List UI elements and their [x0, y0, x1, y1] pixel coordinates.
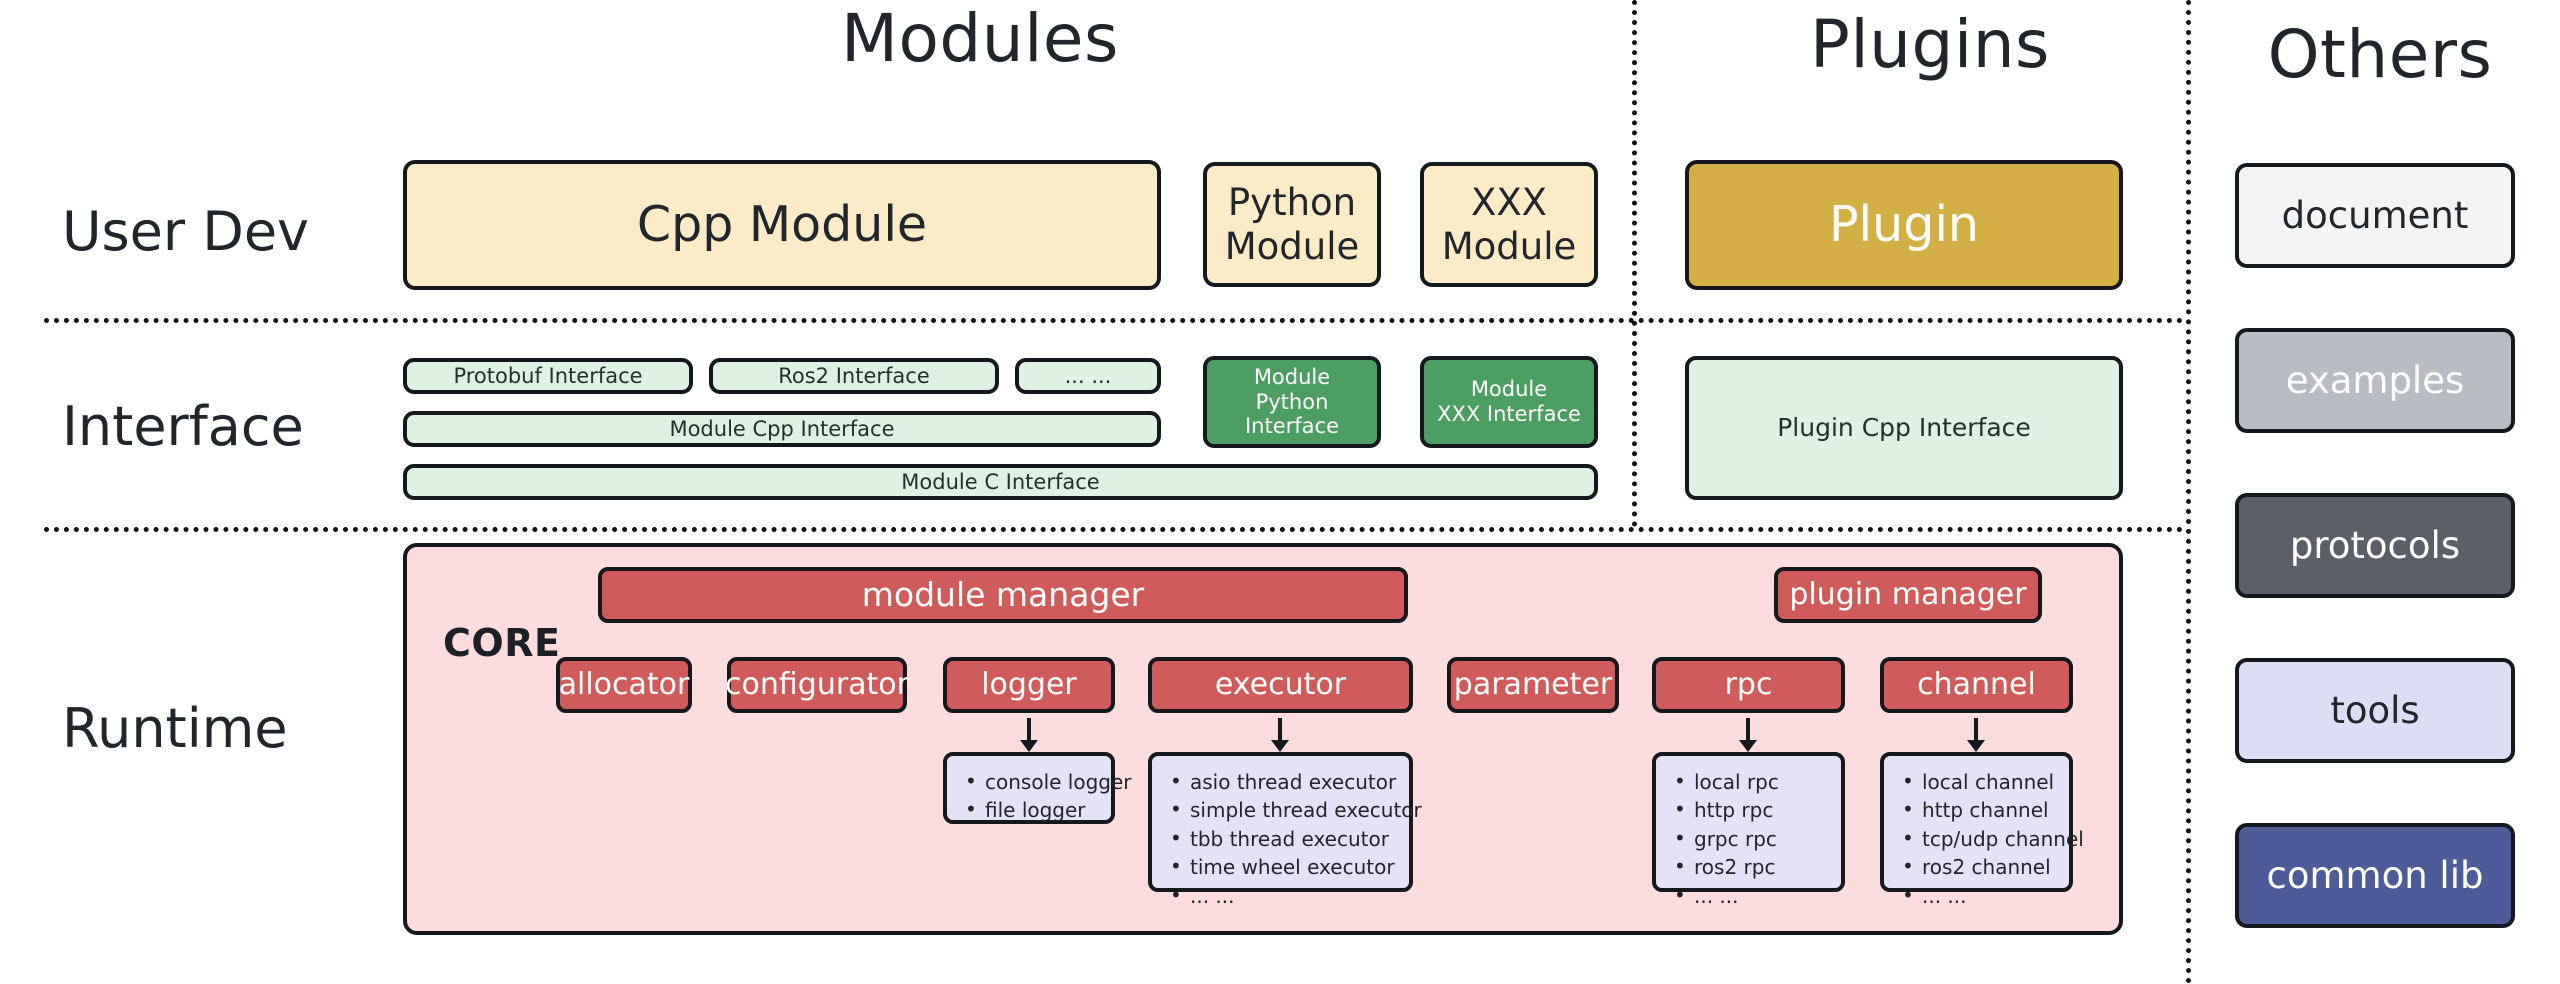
list-item: simple thread executor [1190, 796, 1395, 824]
tools-box[interactable]: tools [2235, 658, 2515, 763]
list-item: ros2 rpc [1694, 853, 1827, 881]
separator-modules-plugins [1632, 0, 1637, 527]
python-module-label-line1: Python [1228, 181, 1356, 225]
ros2-interface-box[interactable]: Ros2 Interface [709, 358, 999, 394]
rpc-list-box: local rpc http rpc grpc rpc ros2 rpc ...… [1652, 752, 1845, 892]
list-item: tcp/udp channel [1922, 825, 2055, 853]
module-manager-box[interactable]: module manager [598, 567, 1408, 623]
allocator-box[interactable]: allocator [556, 657, 692, 713]
list-item: tbb thread executor [1190, 825, 1395, 853]
separator-plugins-others [2186, 0, 2191, 984]
logger-list: console logger file logger [963, 768, 1097, 825]
list-item: http rpc [1694, 796, 1827, 824]
logger-arrow-icon [1015, 716, 1043, 754]
ellipsis-interface-box[interactable]: ... ... [1015, 358, 1161, 394]
column-header-modules: Modules [600, 6, 1360, 72]
list-item: ... ... [1190, 882, 1395, 910]
column-header-plugins: Plugins [1660, 12, 2200, 78]
protobuf-interface-box[interactable]: Protobuf Interface [403, 358, 693, 394]
row-label-interface: Interface [62, 400, 304, 454]
module-xxx-interface-box[interactable]: Module XXX Interface [1420, 356, 1598, 448]
list-item: ... ... [1694, 882, 1827, 910]
python-module-label-line2: Module [1225, 225, 1360, 269]
list-item: http channel [1922, 796, 2055, 824]
executor-list-box: asio thread executor simple thread execu… [1148, 752, 1413, 892]
row-label-user-dev: User Dev [62, 205, 309, 259]
xxx-module-label-line2: Module [1442, 225, 1577, 269]
parameter-box[interactable]: parameter [1447, 657, 1619, 713]
executor-box[interactable]: executor [1148, 657, 1413, 713]
plugin-manager-box[interactable]: plugin manager [1774, 567, 2042, 623]
module-c-interface-box[interactable]: Module C Interface [403, 464, 1598, 500]
rpc-list: local rpc http rpc grpc rpc ros2 rpc ...… [1672, 768, 1827, 910]
python-module-box[interactable]: Python Module [1203, 162, 1381, 287]
plugin-box[interactable]: Plugin [1685, 160, 2123, 290]
xxx-module-label-line1: XXX [1471, 181, 1547, 225]
module-python-interface-box[interactable]: Module Python Interface [1203, 356, 1381, 448]
executor-list: asio thread executor simple thread execu… [1168, 768, 1395, 910]
module-python-interface-label-line2: Python Interface [1207, 390, 1377, 440]
rpc-arrow-icon [1734, 716, 1762, 754]
list-item: file logger [985, 796, 1097, 824]
row-label-runtime: Runtime [62, 702, 288, 756]
module-xxx-interface-label-line2: XXX Interface [1437, 402, 1581, 427]
executor-arrow-icon [1266, 716, 1294, 754]
plugin-cpp-interface-box[interactable]: Plugin Cpp Interface [1685, 356, 2123, 500]
examples-box[interactable]: examples [2235, 328, 2515, 433]
common-lib-box[interactable]: common lib [2235, 823, 2515, 928]
separator-interface-runtime [44, 527, 2184, 532]
list-item: local channel [1922, 768, 2055, 796]
module-xxx-interface-label-line1: Module [1471, 377, 1547, 402]
list-item: local rpc [1694, 768, 1827, 796]
module-python-interface-label-line1: Module [1254, 365, 1330, 390]
configurator-box[interactable]: configurator [727, 657, 907, 713]
logger-box[interactable]: logger [943, 657, 1115, 713]
list-item: ros2 channel [1922, 853, 2055, 881]
list-item: console logger [985, 768, 1097, 796]
document-box[interactable]: document [2235, 163, 2515, 268]
module-cpp-interface-box[interactable]: Module Cpp Interface [403, 411, 1161, 447]
protocols-box[interactable]: protocols [2235, 493, 2515, 598]
channel-box[interactable]: channel [1880, 657, 2073, 713]
list-item: time wheel executor [1190, 853, 1395, 881]
column-header-others: Others [2215, 22, 2545, 88]
list-item: ... ... [1922, 882, 2055, 910]
channel-list: local channel http channel tcp/udp chann… [1900, 768, 2055, 910]
cpp-module-box[interactable]: Cpp Module [403, 160, 1161, 290]
list-item: grpc rpc [1694, 825, 1827, 853]
separator-userdev-interface [44, 318, 2184, 323]
rpc-box[interactable]: rpc [1652, 657, 1845, 713]
logger-list-box: console logger file logger [943, 752, 1115, 824]
channel-arrow-icon [1962, 716, 1990, 754]
xxx-module-box[interactable]: XXX Module [1420, 162, 1598, 287]
list-item: asio thread executor [1190, 768, 1395, 796]
core-title: CORE [443, 621, 560, 665]
channel-list-box: local channel http channel tcp/udp chann… [1880, 752, 2073, 892]
